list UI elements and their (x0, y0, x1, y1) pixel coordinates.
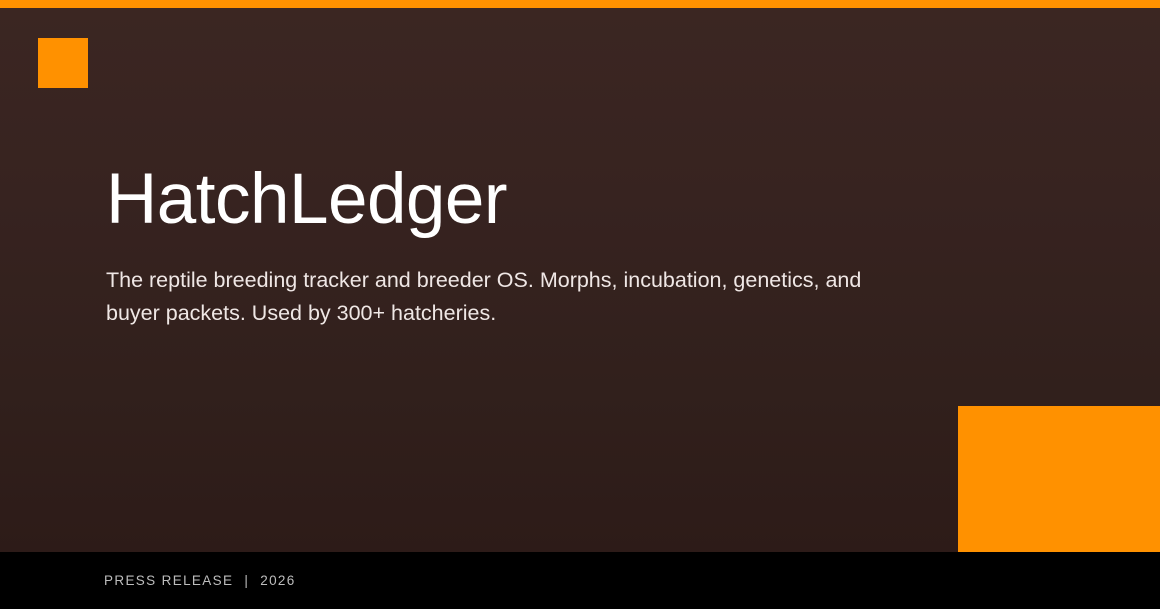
footer-meta: PRESS RELEASE | 2026 (104, 552, 296, 609)
slide-stage: HatchLedger The reptile breeding tracker… (0, 8, 1160, 552)
accent-block-shape (958, 406, 1160, 552)
footer-label: PRESS RELEASE (104, 573, 233, 588)
logo-mark-icon (38, 38, 88, 88)
title-slide: HatchLedger The reptile breeding tracker… (0, 0, 1160, 609)
footer-bar: PRESS RELEASE | 2026 (0, 552, 1160, 609)
hero-text-column: HatchLedger The reptile breeding tracker… (106, 158, 926, 330)
top-accent-rule (0, 0, 1160, 8)
footer-separator: | (242, 573, 251, 588)
hero-subtitle: The reptile breeding tracker and breeder… (106, 264, 916, 330)
page-title: HatchLedger (106, 158, 926, 242)
footer-year: 2026 (260, 573, 295, 588)
